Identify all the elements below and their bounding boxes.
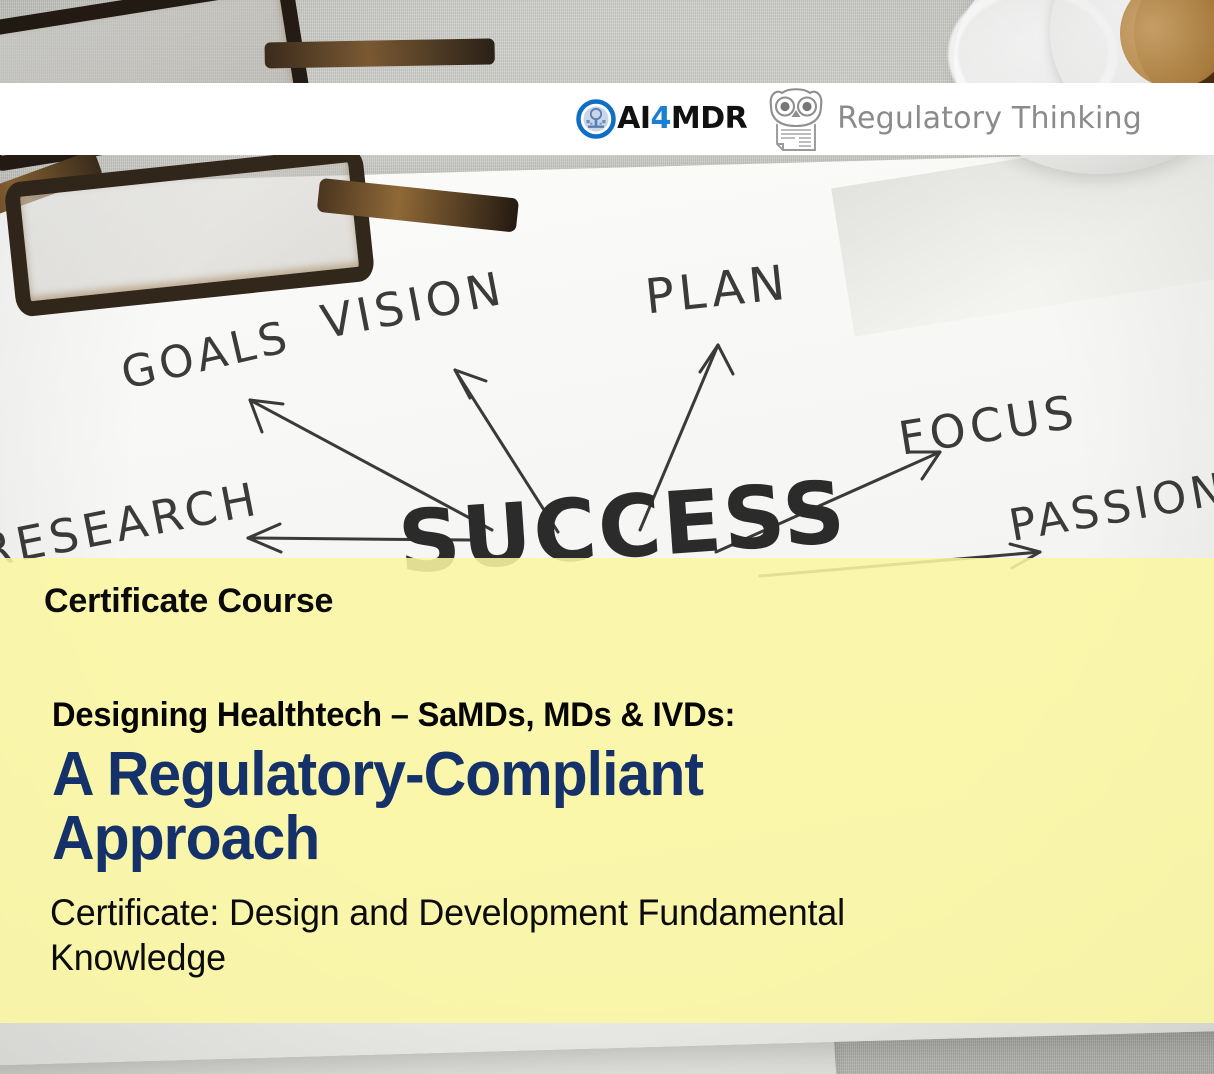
course-subtitle: Designing Healthtech – SaMDs, MDs & IVDs… bbox=[52, 698, 1129, 734]
ai4mdr-text-accent: 4 bbox=[651, 101, 671, 136]
ai4mdr-logo: AI4MDR bbox=[576, 99, 747, 139]
ai4mdr-wordmark: AI4MDR bbox=[617, 104, 747, 134]
regulatory-thinking-logo: Regulatory Thinking bbox=[765, 86, 1142, 152]
slide-canvas: RESEARCH GOALS VISION PLAN FOCUS PASSION… bbox=[0, 0, 1214, 1074]
logo-bar: AI4MDR bbox=[0, 83, 1214, 155]
title-banner: Certificate Course Designing Healthtech … bbox=[0, 558, 1214, 1023]
regulatory-thinking-label: Regulatory Thinking bbox=[837, 104, 1142, 134]
owl-document-icon bbox=[765, 86, 827, 152]
ai4mdr-circle-icon bbox=[576, 99, 616, 139]
page-title: A Regulatory-Compliant Approach bbox=[52, 743, 907, 869]
course-kicker: Certificate Course bbox=[44, 584, 1174, 620]
ai4mdr-text-1: AI bbox=[617, 101, 650, 136]
ai4mdr-text-2: MDR bbox=[671, 101, 747, 136]
certificate-line: Certificate: Design and Development Fund… bbox=[50, 890, 1020, 980]
